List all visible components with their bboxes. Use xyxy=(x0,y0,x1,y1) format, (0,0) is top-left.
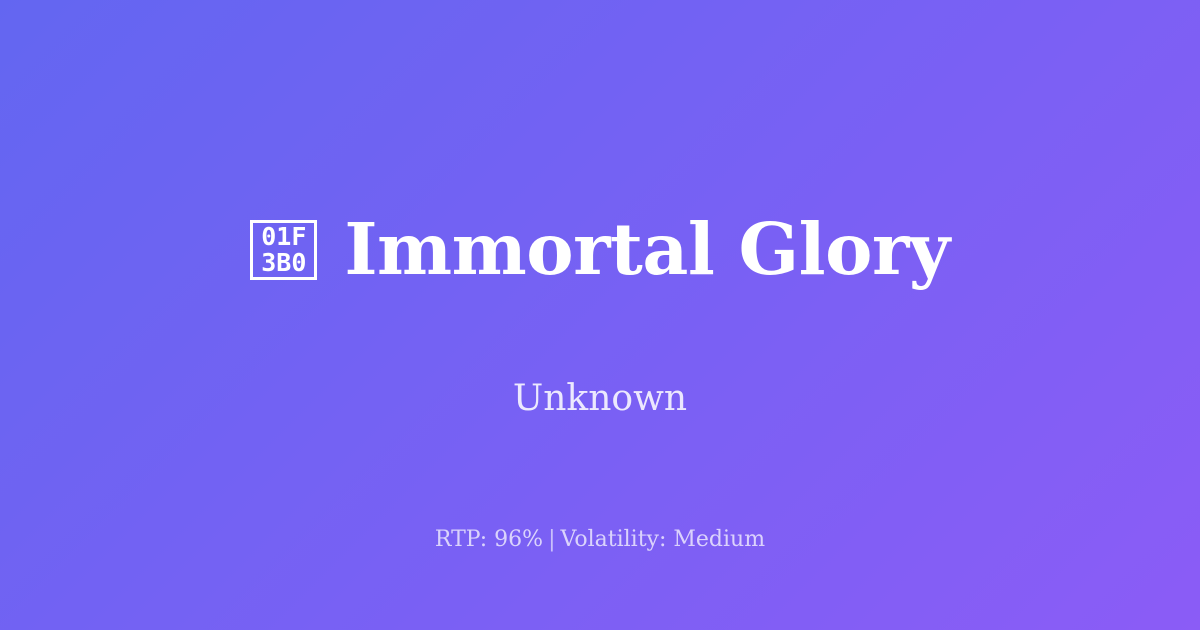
title-row: 01F 3B0 Immortal Glory xyxy=(250,166,949,335)
volatility-label: Volatility: Medium xyxy=(561,527,766,552)
meta-separator: | xyxy=(543,527,560,552)
tofu-codepoint-top: 01F xyxy=(261,224,306,250)
hero-block: 01F 3B0 Immortal Glory Unknown xyxy=(250,166,949,419)
game-provider: Unknown xyxy=(513,379,687,419)
game-title: Immortal Glory xyxy=(344,213,949,287)
rtp-label: RTP: 96% xyxy=(435,527,543,552)
slot-machine-icon: 01F 3B0 xyxy=(250,220,317,280)
game-preview-card: 01F 3B0 Immortal Glory Unknown RTP: 96%|… xyxy=(0,0,1200,630)
game-meta: RTP: 96%|Volatility: Medium xyxy=(0,527,1200,553)
tofu-codepoint-bottom: 3B0 xyxy=(261,250,306,276)
